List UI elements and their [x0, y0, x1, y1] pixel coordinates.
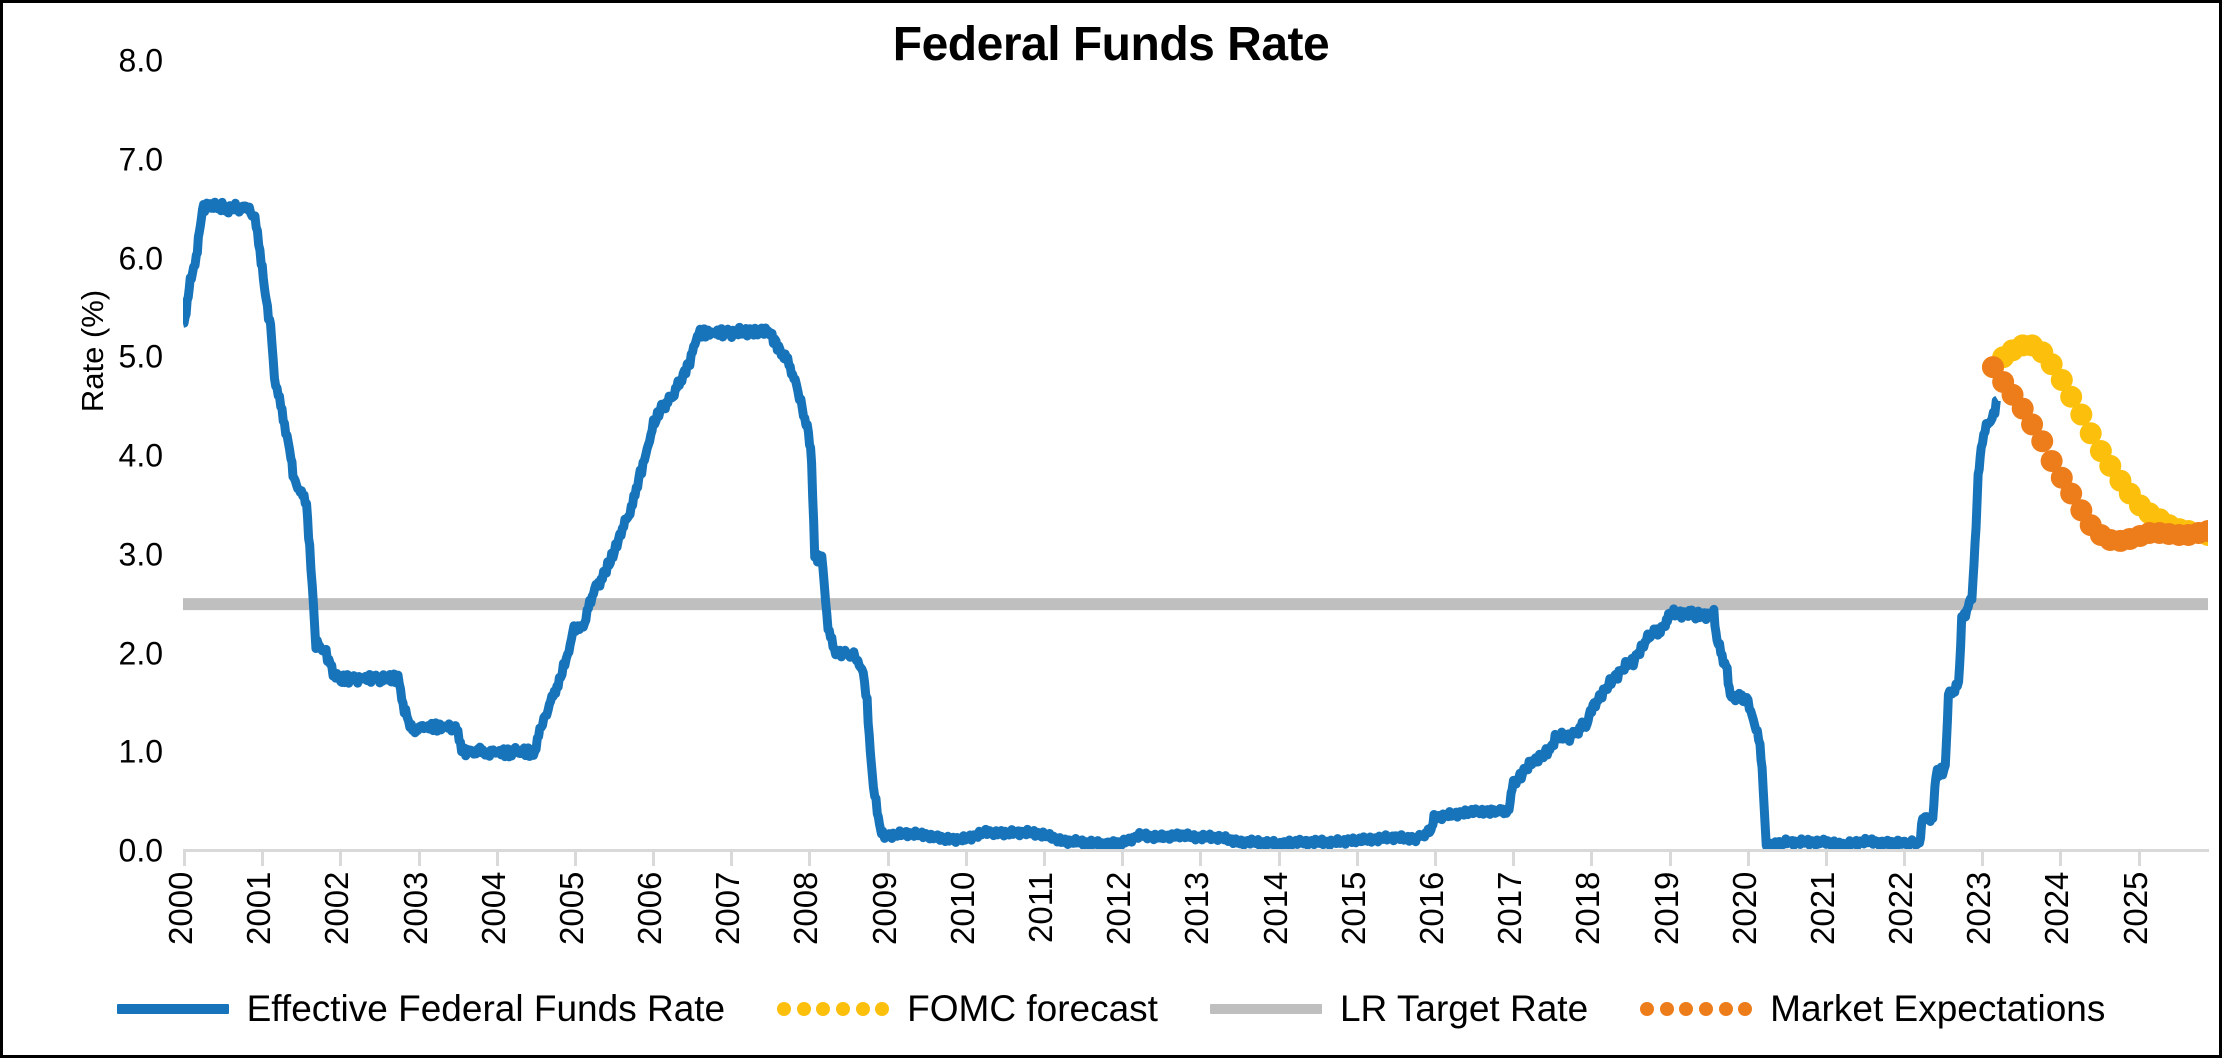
x-axis-tick-label: 2014 [1257, 872, 1303, 982]
x-axis-tick-label: 2005 [553, 872, 599, 982]
x-axis-tick-mark [1356, 852, 1359, 866]
x-axis-tick-mark [1512, 852, 1515, 866]
x-axis-tick-label: 2013 [1178, 872, 1224, 982]
legend-item-label: LR Target Rate [1340, 988, 1588, 1030]
legend-item[interactable]: Market Expectations [1640, 988, 2105, 1030]
x-axis-tick-label: 2020 [1726, 872, 1772, 982]
y-axis-tick-labels: 0.01.02.03.04.05.06.07.08.0 [33, 3, 163, 1058]
x-axis-tick-mark [1043, 852, 1046, 866]
x-axis-tick-mark [1434, 852, 1437, 866]
x-axis-tick-mark [1121, 852, 1124, 866]
x-axis-tick-label: 2007 [709, 872, 755, 982]
x-axis-tick-label: 2024 [2038, 872, 2084, 982]
x-axis-tick-mark [2138, 852, 2141, 866]
x-axis-tick-mark [730, 852, 733, 866]
x-axis-tick-mark [1590, 852, 1593, 866]
x-axis-tick-label: 2009 [866, 872, 912, 982]
x-axis-tick-label: 2000 [162, 872, 208, 982]
legend-item[interactable]: Effective Federal Funds Rate [117, 988, 778, 1030]
x-axis-tick-mark [1747, 852, 1750, 866]
x-axis-tick-mark [1278, 852, 1281, 866]
legend-dots-swatch [1640, 1002, 1752, 1016]
x-axis-tick-mark [1981, 852, 1984, 866]
x-axis-tick-label: 2011 [1022, 872, 1068, 982]
x-axis-tick-label: 2006 [631, 872, 677, 982]
x-axis-tick-label: 2004 [475, 872, 521, 982]
x-axis-tick-label: 2002 [318, 872, 364, 982]
plot-area [183, 61, 2208, 851]
x-axis-tick-label: 2017 [1491, 872, 1537, 982]
chart-legend: Effective Federal Funds RateFOMC forecas… [3, 979, 2219, 1039]
x-axis-tick-mark [2059, 852, 2062, 866]
y-axis-tick-label: 7.0 [43, 141, 163, 178]
x-axis-tick-label: 2016 [1413, 872, 1459, 982]
x-axis-tick-label: 2022 [1882, 872, 1928, 982]
x-axis-tick-label: 2010 [944, 872, 990, 982]
x-axis-tick-mark [183, 852, 186, 866]
y-axis-tick-label: 3.0 [43, 536, 163, 573]
x-axis-tick-mark [808, 852, 811, 866]
legend-line-swatch [117, 1004, 229, 1014]
x-axis-tick-mark [1199, 852, 1202, 866]
x-axis-tick-label: 2023 [1960, 872, 2006, 982]
x-axis-tick-label: 2003 [397, 872, 443, 982]
plot-svg [183, 61, 2208, 851]
x-axis-tick-mark [1669, 852, 1672, 866]
x-axis-tick-mark [652, 852, 655, 866]
chart-figure: Federal Funds Rate Rate (%) 0.01.02.03.0… [0, 0, 2222, 1058]
x-axis-tick-mark [887, 852, 890, 866]
series-fomc-forecast [1982, 334, 2208, 546]
y-axis-tick-label: 1.0 [43, 734, 163, 771]
y-axis-tick-label: 4.0 [43, 438, 163, 475]
legend-item-label: Effective Federal Funds Rate [247, 988, 726, 1030]
x-axis-tick-label: 2012 [1100, 872, 1146, 982]
x-axis-tick-mark [339, 852, 342, 866]
y-axis-tick-label: 0.0 [43, 833, 163, 870]
legend-line-swatch [1210, 1004, 1322, 1014]
y-axis-tick-label: 8.0 [43, 43, 163, 80]
y-axis-tick-label: 5.0 [43, 339, 163, 376]
legend-item[interactable]: LR Target Rate [1210, 988, 1640, 1030]
x-axis-tick-mark [496, 852, 499, 866]
x-axis-tick-mark [574, 852, 577, 866]
x-axis-tick-label: 2025 [2117, 872, 2163, 982]
x-axis-tick-label: 2008 [787, 872, 833, 982]
y-axis-tick-label: 6.0 [43, 240, 163, 277]
x-axis-tick-mark [1825, 852, 1828, 866]
x-axis-tick-label: 2015 [1335, 872, 1381, 982]
y-axis-tick-label: 2.0 [43, 635, 163, 672]
x-axis-tick-mark [261, 852, 264, 866]
x-axis-tick-label: 2001 [240, 872, 286, 982]
legend-item[interactable]: FOMC forecast [777, 988, 1210, 1030]
x-axis-tick-mark [418, 852, 421, 866]
x-axis-tick-label: 2018 [1569, 872, 1615, 982]
legend-item-label: Market Expectations [1770, 988, 2105, 1030]
series-effective-federal-funds-rate [183, 202, 1998, 848]
x-axis-tick-label: 2019 [1648, 872, 1694, 982]
legend-item-label: FOMC forecast [907, 988, 1158, 1030]
x-axis-tick-label: 2021 [1804, 872, 1850, 982]
x-axis-tick-mark [1903, 852, 1906, 866]
x-axis-tick-mark [965, 852, 968, 866]
legend-dots-swatch [777, 1002, 889, 1016]
